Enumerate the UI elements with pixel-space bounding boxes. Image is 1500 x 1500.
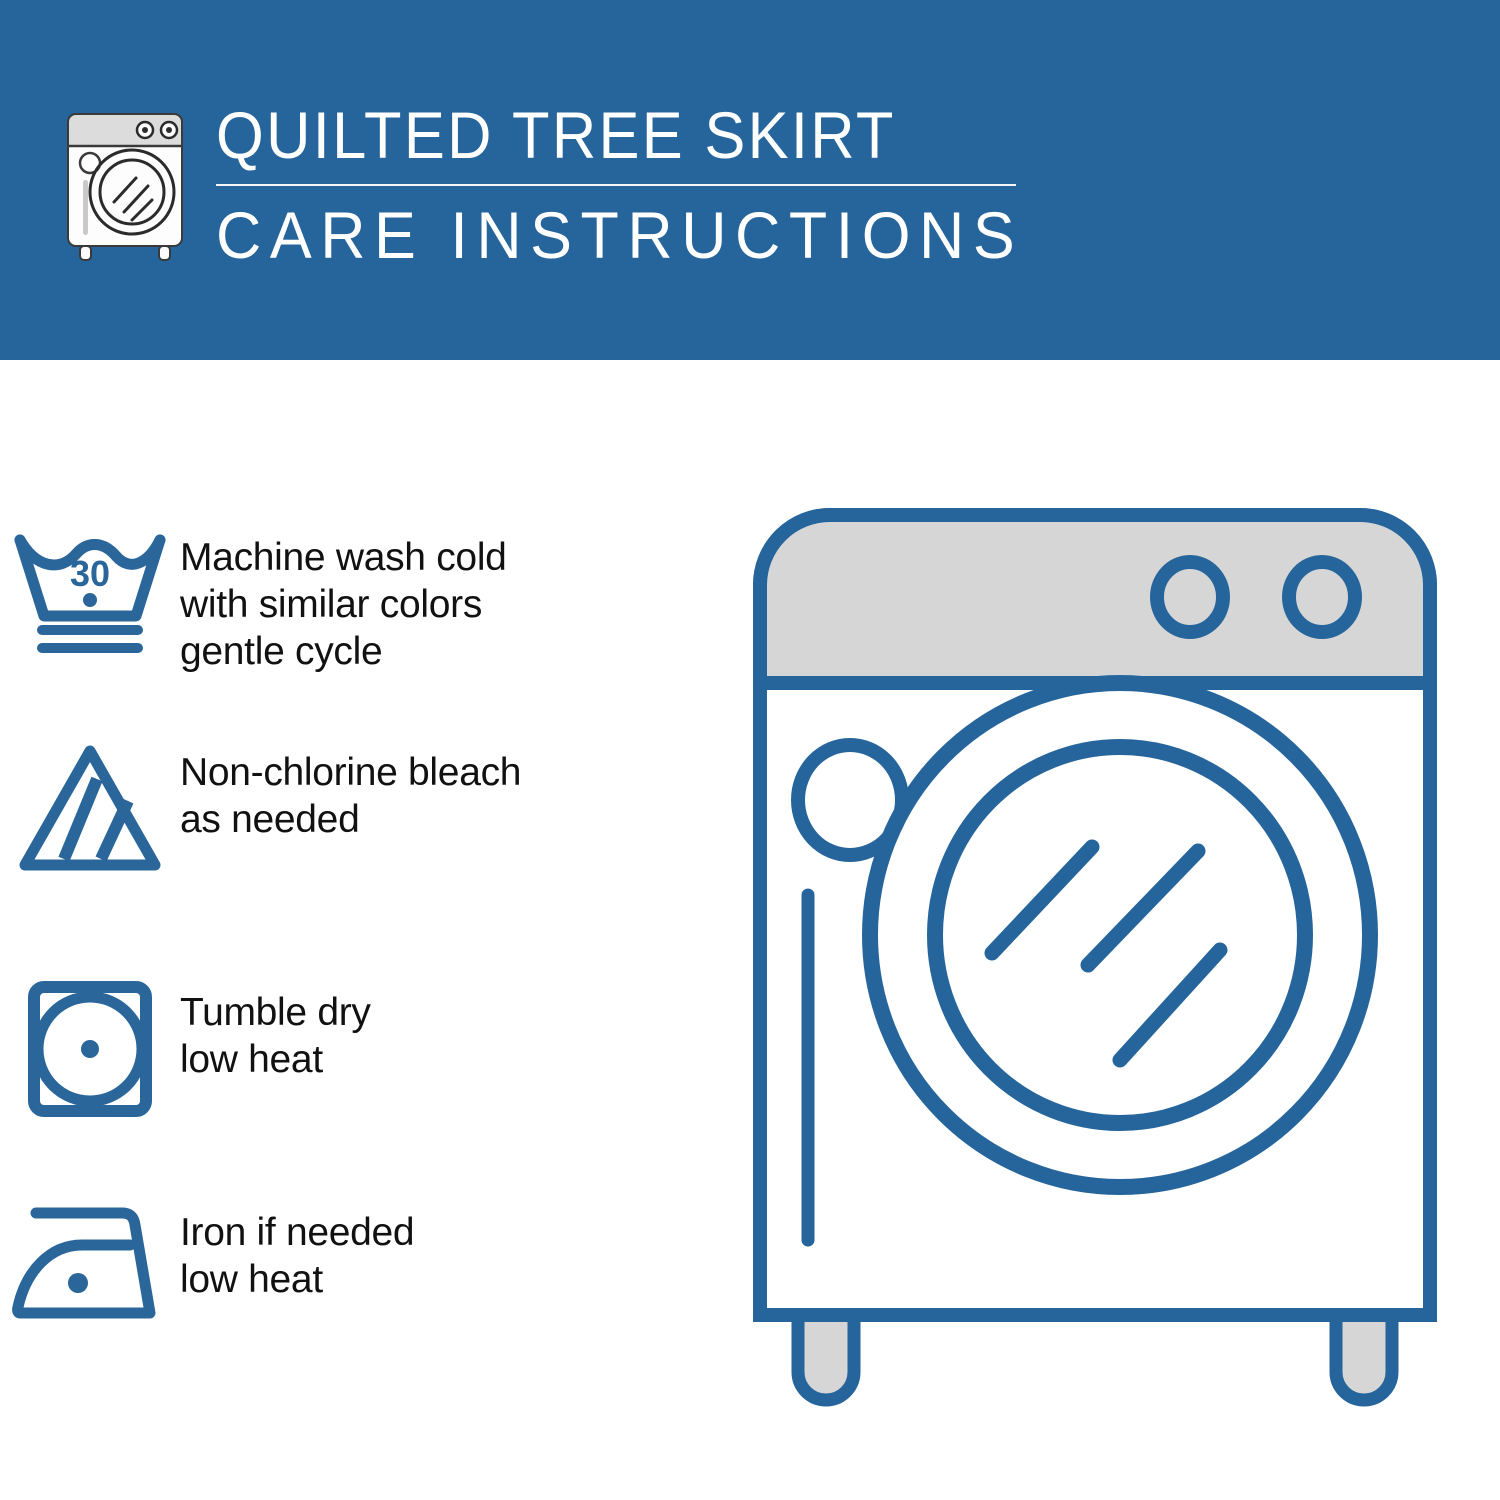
- care-item-bleach: Non-chlorine bleach as needed: [0, 735, 730, 879]
- care-line: Machine wash cold: [180, 534, 507, 581]
- care-line: low heat: [180, 1036, 371, 1083]
- care-item-label: Iron if needed low heat: [180, 1195, 414, 1303]
- care-instructions-list: 30 Machine wash cold with similar colors…: [0, 360, 730, 1500]
- header-divider: [216, 184, 1016, 186]
- triangle-non-chlorine-bleach-icon: [0, 735, 180, 879]
- care-line: low heat: [180, 1256, 414, 1303]
- wash-temperature-value: 30: [70, 553, 110, 594]
- care-line: gentle cycle: [180, 628, 507, 675]
- care-item-label: Non-chlorine bleach as needed: [180, 735, 521, 843]
- iron-low-heat-icon: [0, 1195, 180, 1329]
- care-item-iron: Iron if needed low heat: [0, 1195, 730, 1329]
- page-subtitle: CARE INSTRUCTIONS: [216, 196, 976, 274]
- care-instructions-page: QUILTED TREE SKIRT CARE INSTRUCTIONS 3: [0, 0, 1500, 1500]
- care-line: Tumble dry: [180, 989, 371, 1036]
- care-item-label: Machine wash cold with similar colors ge…: [180, 520, 507, 675]
- care-item-tumble-dry: Tumble dry low heat: [0, 975, 730, 1119]
- care-line: Non-chlorine bleach: [180, 749, 521, 796]
- page-title: QUILTED TREE SKIRT: [216, 98, 960, 172]
- header-text-block: QUILTED TREE SKIRT CARE INSTRUCTIONS: [216, 98, 1016, 274]
- care-line: with similar colors: [180, 581, 507, 628]
- care-line: as needed: [180, 796, 521, 843]
- washing-machine-icon: [62, 108, 188, 264]
- wash-tub-30-gentle-icon: 30: [0, 520, 180, 664]
- machine-control-panel: [767, 522, 1423, 683]
- page-header: QUILTED TREE SKIRT CARE INSTRUCTIONS: [0, 0, 1500, 360]
- washing-machine-illustration: [740, 495, 1450, 1420]
- tumble-dry-low-heat-icon: [0, 975, 180, 1119]
- care-item-label: Tumble dry low heat: [180, 975, 371, 1083]
- care-item-machine-wash: 30 Machine wash cold with similar colors…: [0, 520, 730, 675]
- care-line: Iron if needed: [180, 1209, 414, 1256]
